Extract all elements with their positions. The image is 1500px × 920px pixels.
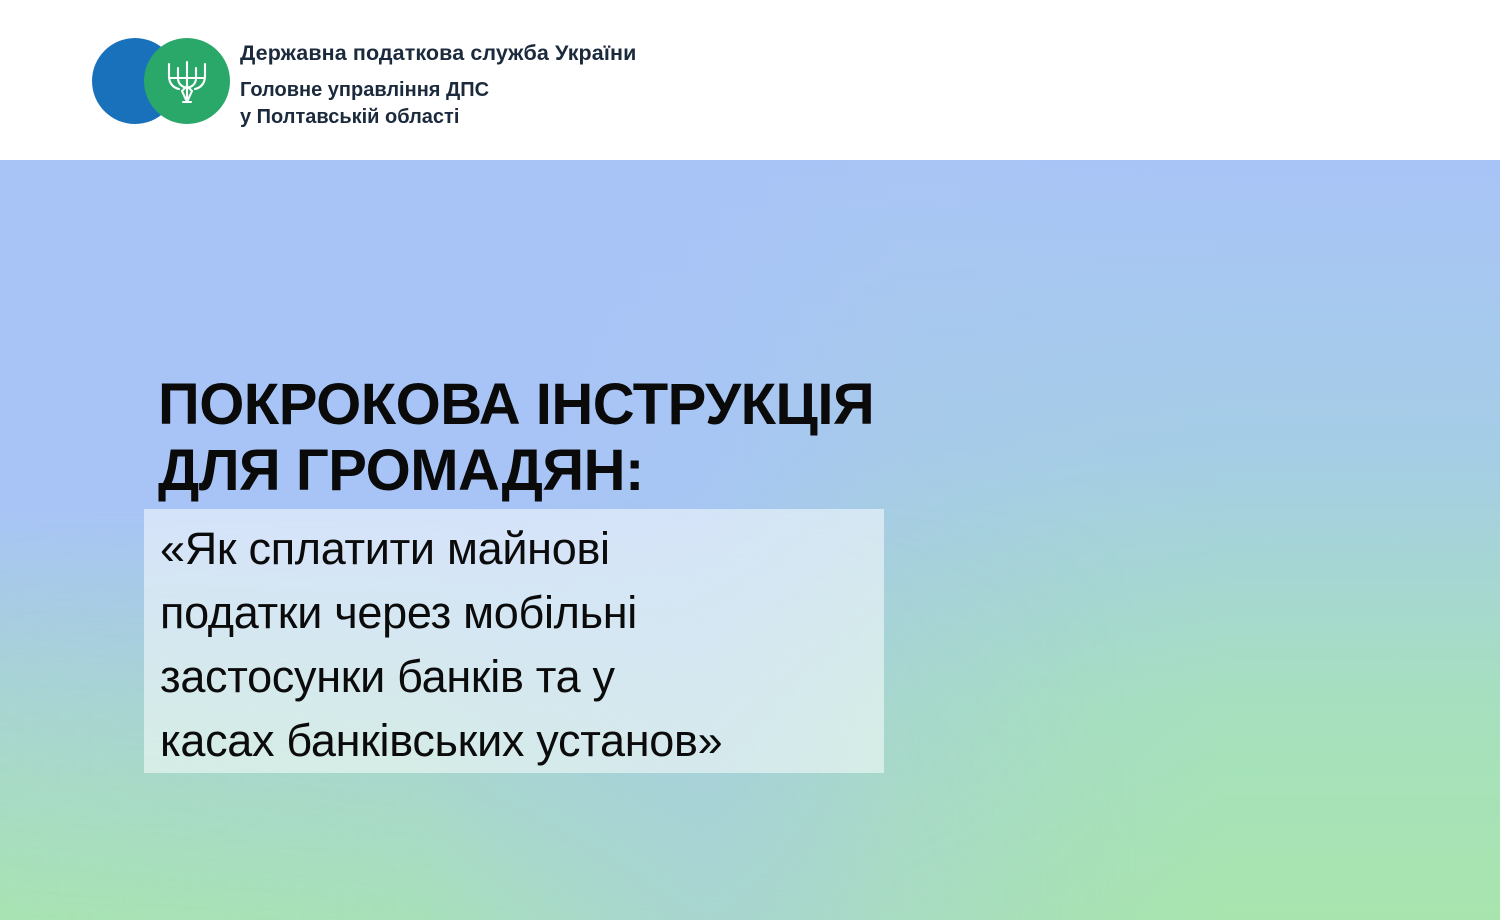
- subtitle-line-3: застосунки банків та у: [160, 645, 890, 709]
- department-name: Головне управління ДПС у Полтавській обл…: [240, 77, 636, 131]
- organization-text-block: Державна податкова служба України Головн…: [240, 38, 636, 131]
- department-line-1: Головне управління ДПС: [240, 77, 636, 104]
- poster-canvas: ПОКРОКОВА ІНСТРУКЦІЯ ДЛЯ ГРОМАДЯН: «Як с…: [0, 0, 1500, 920]
- ukrainian-trident-icon: [164, 58, 210, 106]
- department-line-2: у Полтавській області: [240, 104, 636, 131]
- organization-name: Державна податкова служба України: [240, 40, 636, 67]
- headline-line-1: ПОКРОКОВА ІНСТРУКЦІЯ: [158, 372, 938, 438]
- organization-logo-block: Державна податкова служба України Головн…: [92, 38, 636, 131]
- headline-line-2: ДЛЯ ГРОМАДЯН:: [158, 438, 938, 504]
- page-title: ПОКРОКОВА ІНСТРУКЦІЯ ДЛЯ ГРОМАДЯН:: [158, 372, 938, 503]
- logo-marks: [92, 38, 230, 124]
- header-band: Державна податкова служба України Головн…: [0, 0, 1500, 160]
- subtitle-line-4: касах банківських установ»: [160, 709, 890, 773]
- subtitle-line-1: «Як сплатити майнові: [160, 517, 890, 581]
- subtitle-line-2: податки через мобільні: [160, 581, 890, 645]
- page-subtitle: «Як сплатити майнові податки через мобіл…: [160, 517, 890, 773]
